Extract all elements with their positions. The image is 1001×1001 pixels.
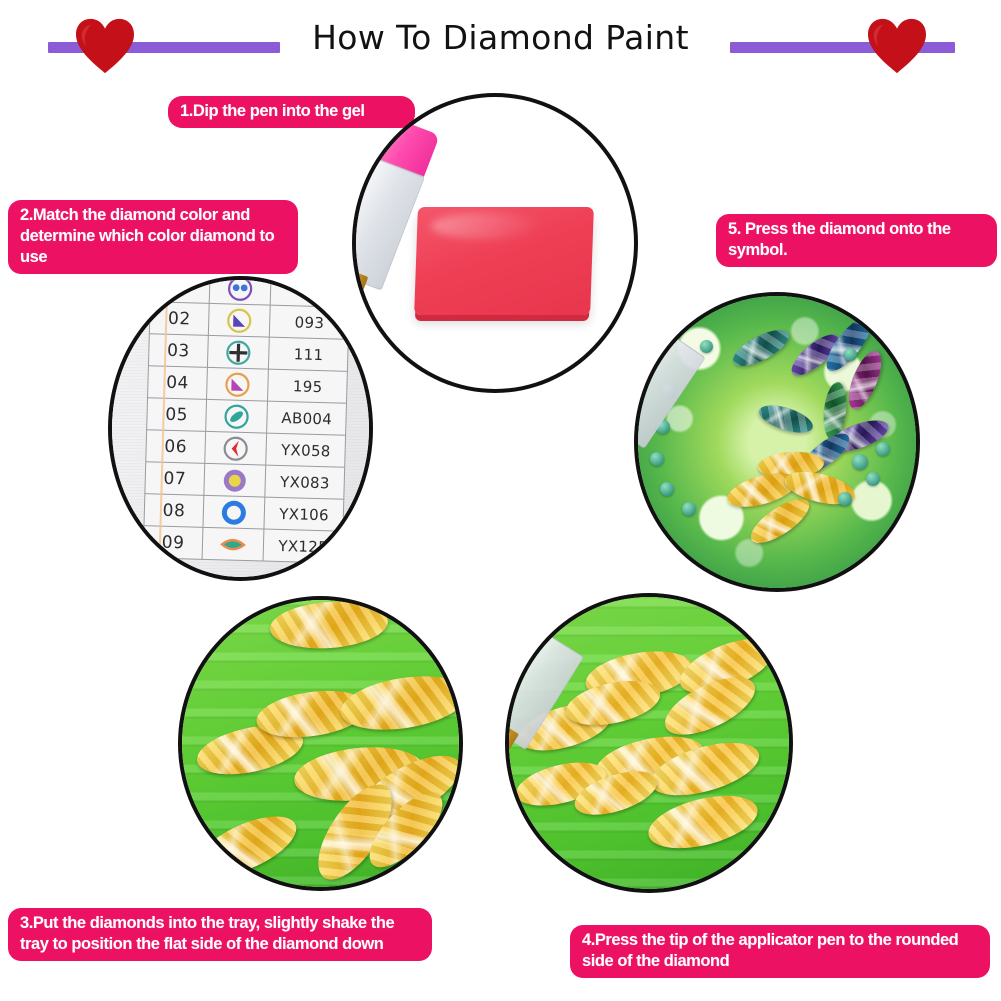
- round-gem: [838, 492, 852, 506]
- chart-row-code: 020: [271, 276, 350, 307]
- chart-row-code: 111: [269, 337, 348, 371]
- plus-icon: [225, 339, 252, 366]
- chart-row-number: 09: [143, 526, 203, 560]
- round-gem: [682, 502, 696, 516]
- chart-row-symbol: [204, 463, 266, 497]
- step-3-label: 3.Put the diamonds into the tray, slight…: [8, 908, 432, 961]
- pen-dipping-into-gel-photo: [352, 93, 638, 393]
- pen-barrel: [352, 158, 425, 291]
- color-chart-photo: 0102002093031110419505AB00406YX05807YX08…: [108, 276, 373, 581]
- chart-row-symbol: [208, 335, 270, 369]
- chart-row-number: 02: [149, 302, 209, 336]
- round-gem: [866, 472, 880, 486]
- pressing-diamond-on-canvas-photo: [634, 292, 920, 592]
- step-2-label: 2.Match the diamond color and determine …: [8, 200, 298, 274]
- chart-row-number: 01: [150, 276, 210, 303]
- chart-row-number: 06: [146, 430, 206, 464]
- chart-row-code: YX106: [264, 497, 343, 531]
- photo-content: [638, 296, 916, 588]
- chart-row-symbol: [208, 303, 270, 337]
- chart-row-code: 195: [268, 369, 347, 403]
- arrow-left-icon: [223, 435, 250, 462]
- triangle-icon: [224, 371, 251, 398]
- chart-row-symbol: [205, 431, 267, 465]
- pen-tip: [634, 421, 638, 494]
- round-gem: [844, 348, 857, 361]
- chart-row-code: YX058: [266, 433, 345, 467]
- round-gem: [876, 442, 890, 456]
- chart-row-code: YX125: [264, 529, 343, 563]
- chart-row-symbol: [209, 276, 271, 305]
- double-dot-circle-icon: [227, 276, 254, 302]
- color-chart-table-wrap: 0102002093031110419505AB00406YX05807YX08…: [141, 276, 350, 581]
- triangle-icon: [226, 307, 253, 334]
- ring-icon: [221, 499, 248, 526]
- chart-row-number: 07: [145, 462, 205, 496]
- chart-row-number: 04: [148, 366, 208, 400]
- photo-content: [182, 600, 459, 887]
- diamonds-in-tray-photo: [178, 596, 463, 891]
- photo-content: 0102002093031110419505AB00406YX05807YX08…: [112, 280, 369, 577]
- chart-row-symbol: [203, 495, 265, 529]
- header: How To Diamond Paint: [0, 0, 1001, 80]
- round-gem: [700, 340, 713, 353]
- photo-content: [356, 97, 634, 389]
- chart-row-symbol: [202, 527, 264, 561]
- page-title: How To Diamond Paint: [0, 18, 1001, 58]
- step-4-label: 4.Press the tip of the applicator pen to…: [570, 925, 990, 978]
- photo-content: [509, 597, 789, 889]
- pen-picking-diamond-photo: [505, 593, 793, 893]
- chart-row-symbol: [207, 367, 269, 401]
- chart-row-code: YX083: [265, 465, 344, 499]
- dot-in-ring-icon: [222, 467, 249, 494]
- round-gem: [852, 454, 868, 470]
- color-chart-row: 09YX125: [143, 526, 343, 564]
- step-5-label: 5. Press the diamond onto the symbol.: [716, 214, 997, 267]
- chart-row-symbol: [206, 399, 268, 433]
- chart-row-number: 03: [148, 334, 208, 368]
- chart-row-number: 08: [144, 494, 204, 528]
- chart-row-code: 093: [270, 305, 349, 339]
- bean-icon: [224, 403, 251, 430]
- color-chart-table: 0102002093031110419505AB00406YX05807YX08…: [143, 276, 351, 564]
- chart-row-number: 05: [147, 398, 207, 432]
- pen-tip: [505, 723, 519, 795]
- infographic-canvas: How To Diamond Paint 1.Dip the pen into …: [0, 0, 1001, 1001]
- leaf-icon: [220, 531, 247, 558]
- chart-row-code: AB004: [267, 401, 346, 435]
